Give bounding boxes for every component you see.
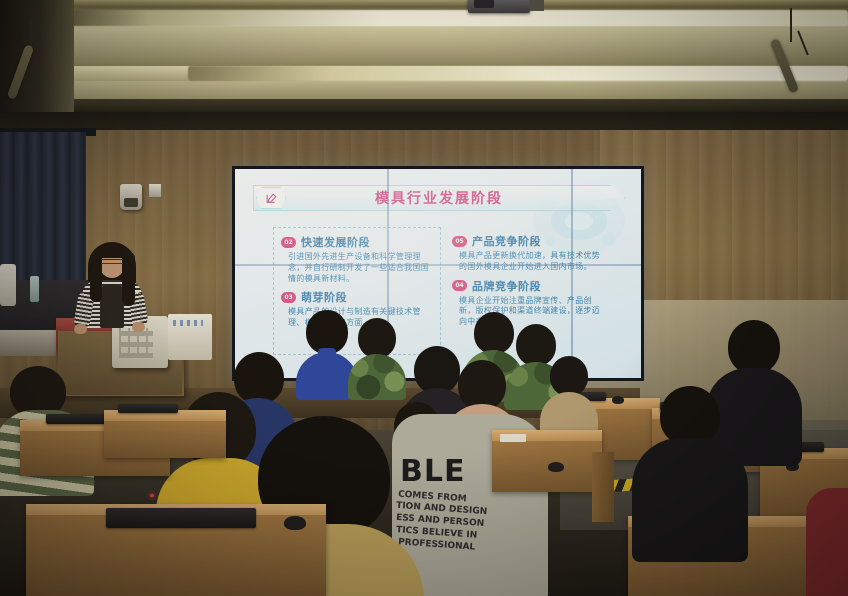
stage-heading: 快速发展阶段: [301, 234, 370, 250]
water-jug: [0, 264, 16, 306]
classroom-scene: 模具行业发展阶段 02 快速发展阶段 引进国外先进生产设备和科学管理理念，并自行…: [0, 0, 848, 596]
glasses-icon: [101, 259, 123, 264]
stage-heading: 品牌竞争阶段: [472, 278, 541, 294]
presenter-at-podium: [74, 240, 150, 332]
laptop[interactable]: [118, 404, 178, 413]
stage-number-badge: 05: [452, 236, 467, 247]
presenter-hand-right: [132, 322, 145, 332]
speaker-grille-icon: [124, 198, 138, 207]
student-red-sleeve: [806, 488, 848, 596]
presenter-torso-center: [100, 284, 124, 328]
stage-number-badge: 04: [452, 280, 467, 291]
mouse[interactable]: [284, 516, 306, 530]
stage-number-badge: 02: [281, 237, 296, 248]
panel-led-row-icon: [173, 320, 203, 326]
stage-heading: 萌芽阶段: [301, 289, 347, 305]
stage-number-badge: 03: [281, 292, 296, 303]
paper-sheet: [500, 434, 526, 442]
wall-speaker: [120, 184, 142, 210]
ceiling: [0, 0, 848, 112]
slide-stage-item: 02 快速发展阶段 引进国外先进生产设备和科学管理理念，并自行研制开发了一些适合…: [281, 234, 433, 284]
student-black-shirt: [632, 386, 748, 556]
presenter-hair-right: [122, 252, 135, 306]
laptop[interactable]: [46, 414, 110, 424]
slide-stage-item: 05 产品竞争阶段 模具产品更新换代加速，具有技术优势的国外模具企业开始进入国内…: [452, 233, 606, 273]
panel-seam-horizontal: [235, 264, 641, 266]
stage-heading: 产品竞争阶段: [472, 233, 541, 249]
projector-icon: [468, 0, 530, 13]
stage-header: 05 产品竞争阶段: [452, 233, 606, 249]
projector-lens-icon: [474, 0, 494, 8]
wall-switch-panel[interactable]: [148, 183, 162, 198]
stage-body-text: 引进国外先进生产设备和科学管理理念，并自行研制开发了一些适合我国国情的模具新材料…: [281, 252, 433, 284]
ceiling-band-upper: [0, 26, 848, 66]
desk-side-panel: [592, 452, 614, 522]
mouse[interactable]: [548, 462, 564, 472]
student-desk: [104, 410, 226, 458]
ceiling-light-cove-1: [70, 10, 848, 26]
student-camo-shirt: [348, 318, 406, 398]
laptop[interactable]: [106, 508, 256, 528]
presenter-hand-left: [74, 324, 87, 334]
stage-header: 04 品牌竞争阶段: [452, 278, 606, 294]
stage-header: 02 快速发展阶段: [281, 234, 433, 250]
control-panel[interactable]: [168, 314, 212, 360]
ceiling-light-cove-2: [188, 66, 848, 81]
vent-grille-icon: [119, 328, 153, 358]
ceiling-band-lower: [0, 81, 848, 101]
slide-title-banner: 模具行业发展阶段: [253, 185, 625, 211]
panel-seam-vertical: [571, 169, 573, 378]
power-led-indicator: [150, 494, 154, 497]
stage-body-text: 模具产品更新换代加速，具有技术优势的国外模具企业开始进入国内市场。: [452, 251, 606, 273]
stage-header: 03 萌芽阶段: [281, 289, 433, 305]
projector-mount: [530, 0, 544, 11]
water-bottle: [30, 276, 39, 302]
mouse[interactable]: [612, 396, 624, 404]
slide-title: 模具行业发展阶段: [253, 185, 625, 211]
